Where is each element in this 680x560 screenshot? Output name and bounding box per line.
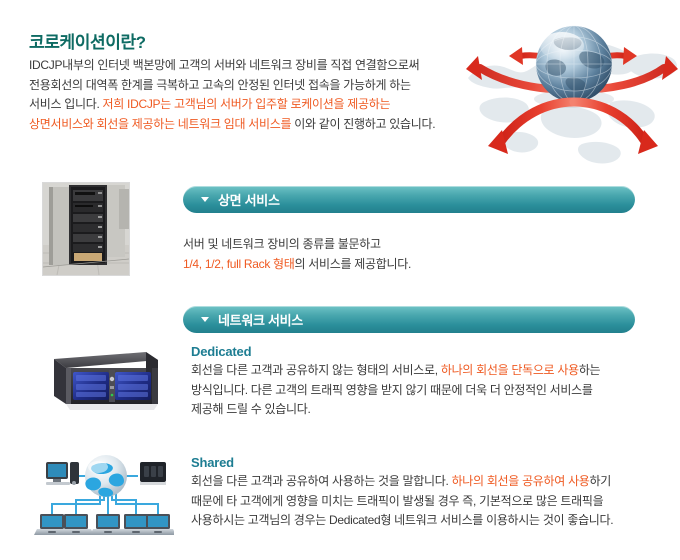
section-colocation: 상면 서비스 서버 및 네트워크 장비의 종류를 불문하고 1/4, 1/2, … <box>0 176 680 286</box>
network-photo <box>34 450 174 542</box>
dedicated-line-1-highlight: 하나의 회선을 단독으로 사용 <box>441 363 579 377</box>
intro-line-3: 서비스 입니다. 저희 IDCJP는 고객님의 서버가 입주할 로케이션을 제공… <box>29 95 499 115</box>
colocation-line-1: 서버 및 네트워크 장비의 종류를 불문하고 <box>183 235 653 255</box>
intro-block: 코로케이션이란? IDCJP내부의 인터넷 백본망에 고객의 서버와 네트워크 … <box>0 0 680 172</box>
colocation-line-2-plain: 의 서비스를 제공합니다. <box>295 257 412 271</box>
shared-line-3: 사용하시는 고객님의 경우는 Dedicated형 네트워크 서비스를 이용하시… <box>191 511 680 531</box>
section-header-colocation[interactable]: 상면 서비스 <box>183 186 635 213</box>
dedicated-line-1-a: 회선을 다른 고객과 공유하지 않는 형태의 서비스로, <box>191 363 441 377</box>
chevron-down-icon <box>201 317 209 322</box>
dedicated-line-1-c: 하는 <box>579 363 600 377</box>
intro-line-4: 상면서비스와 회선을 제공하는 네트워크 임대 서비스를 이와 같이 진행하고 … <box>29 115 499 135</box>
intro-line-2: 전용회선의 대역폭 한계를 극복하고 고속의 안정된 인터넷 접속을 가능하게 … <box>29 76 499 96</box>
dedicated-line-3: 제공해 드릴 수 있습니다. <box>191 400 671 420</box>
intro-paragraph: IDCJP내부의 인터넷 백본망에 고객의 서버와 네트워크 장비를 직접 연결… <box>29 56 499 134</box>
shared-line-1: 회선을 다른 고객과 공유하여 사용하는 것을 말합니다. 하나의 회선을 공유… <box>191 472 680 492</box>
dedicated-paragraph: 회선을 다른 고객과 공유하지 않는 형태의 서비스로, 하나의 회선을 단독으… <box>191 361 671 420</box>
dedicated-body: Dedicated 회선을 다른 고객과 공유하지 않는 형태의 서비스로, 하… <box>191 344 671 420</box>
section-header-label: 상면 서비스 <box>218 190 280 209</box>
intro-line-4-highlight: 상면서비스와 회선을 제공하는 네트워크 임대 서비스를 <box>29 117 291 131</box>
colocation-line-2-highlight: 1/4, 1/2, full Rack 형태 <box>183 257 295 271</box>
shared-heading: Shared <box>191 455 680 470</box>
shared-paragraph: 회선을 다른 고객과 공유하여 사용하는 것을 말합니다. 하나의 회선을 공유… <box>191 472 680 531</box>
dedicated-line-2: 방식입니다. 다른 고객의 트래픽 영향을 받지 않기 때문에 더욱 더 안정적… <box>191 381 671 401</box>
shared-line-1-a: 회선을 다른 고객과 공유하여 사용하는 것을 말합니다. <box>191 474 452 488</box>
chevron-down-icon <box>201 197 209 202</box>
dedicated-heading: Dedicated <box>191 344 671 359</box>
colocation-line-2: 1/4, 1/2, full Rack 형태의 서비스를 제공합니다. <box>183 255 653 275</box>
network-header-wrap: 네트워크 서비스 <box>183 306 653 333</box>
intro-line-1: IDCJP내부의 인터넷 백본망에 고객의 서버와 네트워크 장비를 직접 연결… <box>29 56 499 76</box>
colocation-body: 상면 서비스 서버 및 네트워크 장비의 종류를 불문하고 1/4, 1/2, … <box>183 186 653 274</box>
globe-arrows-illustration <box>462 6 680 172</box>
section-header-label: 네트워크 서비스 <box>218 310 303 329</box>
rack-photo <box>42 182 130 276</box>
section-network: 네트워크 서비스 <box>0 300 680 552</box>
colocation-paragraph: 서버 및 네트워크 장비의 종류를 불문하고 1/4, 1/2, full Ra… <box>183 235 653 274</box>
intro-line-3-highlight: 저희 IDCJP는 고객님의 서버가 입주할 로케이션을 제공하는 <box>103 97 391 111</box>
server-photo <box>42 346 162 412</box>
dedicated-line-1: 회선을 다른 고객과 공유하지 않는 형태의 서비스로, 하나의 회선을 단독으… <box>191 361 671 381</box>
shared-line-2: 때문에 타 고객에게 영향을 미치는 트래픽이 발생될 경우 즉, 기본적으로 … <box>191 492 680 512</box>
shared-body: Shared 회선을 다른 고객과 공유하여 사용하는 것을 말합니다. 하나의… <box>191 455 680 531</box>
intro-line-3-plain: 서비스 입니다. <box>29 97 103 111</box>
section-header-network[interactable]: 네트워크 서비스 <box>183 306 635 333</box>
shared-line-1-c: 하기 <box>590 474 611 488</box>
page-title: 코로케이션이란? <box>29 28 146 53</box>
shared-line-1-highlight: 하나의 회선을 공유하여 사용 <box>452 474 590 488</box>
intro-line-4-plain: 이와 같이 진행하고 있습니다. <box>291 117 435 131</box>
